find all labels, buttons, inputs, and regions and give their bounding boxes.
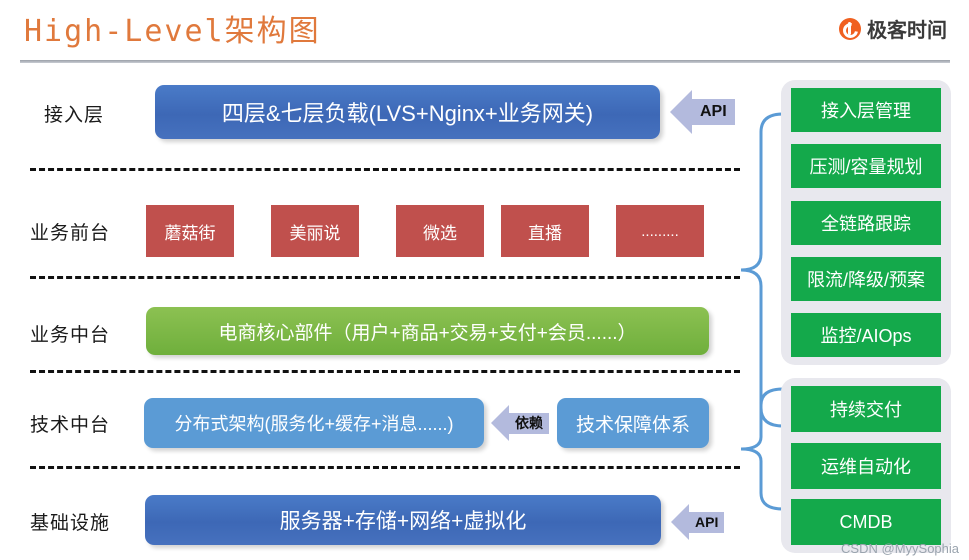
panel-item-cmdb[interactable]: CMDB bbox=[791, 499, 941, 545]
header-divider bbox=[20, 60, 950, 63]
panel-item-ops-automation[interactable]: 运维自动化 bbox=[791, 443, 941, 489]
layer-separator-1 bbox=[30, 168, 740, 171]
panel-item-stress-capacity[interactable]: 压测/容量规划 bbox=[791, 144, 941, 188]
tech-midplatform-box[interactable]: 分布式架构(服务化+缓存+消息......) bbox=[144, 398, 484, 448]
business-midplatform-box[interactable]: 电商核心部件（用户+商品+交易+支付+会员......） bbox=[146, 307, 709, 355]
panel-item-access-mgmt[interactable]: 接入层管理 bbox=[791, 88, 941, 132]
arrow-head-icon bbox=[670, 90, 692, 134]
access-layer-box[interactable]: 四层&七层负载(LVS+Nginx+业务网关) bbox=[155, 85, 660, 139]
api-arrow-top: API bbox=[670, 90, 735, 134]
layer-separator-2 bbox=[30, 276, 740, 279]
frontstage-box-1[interactable]: 蘑菇街 bbox=[146, 205, 234, 257]
api-arrow-top-label: API bbox=[692, 99, 735, 125]
panel-item-full-trace[interactable]: 全链路跟踪 bbox=[791, 201, 941, 245]
brand-logo: 极客时间 bbox=[839, 14, 947, 43]
panel-item-monitoring-aiops[interactable]: 监控/AIOps bbox=[791, 313, 941, 357]
layer-label-frontstage: 业务前台 bbox=[30, 218, 110, 245]
dependency-arrow-label: 依赖 bbox=[509, 413, 549, 434]
layer-separator-3 bbox=[30, 370, 740, 373]
delivery-brace-connector bbox=[735, 385, 787, 513]
layer-label-access: 接入层 bbox=[44, 100, 104, 127]
layer-label-midstage: 业务中台 bbox=[30, 320, 110, 347]
layer-separator-4 bbox=[30, 466, 740, 469]
watermark: CSDN @MyySophia bbox=[841, 541, 959, 556]
panel-item-continuous-delivery[interactable]: 持续交付 bbox=[791, 386, 941, 432]
arrow-head-icon bbox=[671, 504, 689, 540]
api-arrow-bottom-label: API bbox=[689, 512, 724, 533]
delivery-panel: 持续交付 运维自动化 CMDB bbox=[781, 378, 951, 553]
operations-panel: 接入层管理 压测/容量规划 全链路跟踪 限流/降级/预案 监控/AIOps bbox=[781, 80, 951, 365]
frontstage-box-2[interactable]: 美丽说 bbox=[271, 205, 359, 257]
arrow-head-icon bbox=[491, 405, 509, 441]
page-title: High-Level架构图 bbox=[24, 6, 321, 50]
operations-brace-connector bbox=[735, 110, 787, 430]
frontstage-box-3[interactable]: 微选 bbox=[396, 205, 484, 257]
frontstage-box-4[interactable]: 直播 bbox=[501, 205, 589, 257]
layer-label-techmid: 技术中台 bbox=[30, 410, 110, 437]
geektime-logo-icon bbox=[839, 18, 861, 40]
brand-name: 极客时间 bbox=[867, 14, 947, 43]
tech-assurance-box[interactable]: 技术保障体系 bbox=[557, 398, 709, 448]
infrastructure-box[interactable]: 服务器+存储+网络+虚拟化 bbox=[145, 495, 661, 545]
frontstage-box-5[interactable]: ......... bbox=[616, 205, 704, 257]
page-header: High-Level架构图 极客时间 bbox=[0, 0, 969, 64]
layer-label-infra: 基础设施 bbox=[30, 508, 110, 535]
dependency-arrow: 依赖 bbox=[491, 405, 549, 441]
api-arrow-bottom: API bbox=[671, 504, 724, 540]
panel-item-ratelimit-degrade[interactable]: 限流/降级/预案 bbox=[791, 257, 941, 301]
